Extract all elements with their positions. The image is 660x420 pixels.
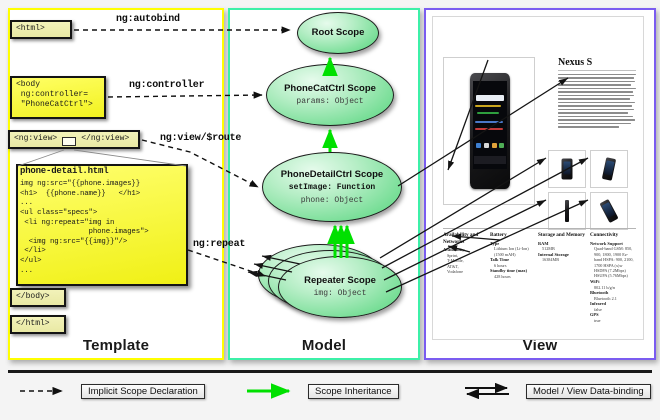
legend-label-databinding: Model / View Data-binding — [526, 384, 651, 399]
product-description-text — [558, 74, 636, 134]
description-line — [558, 98, 630, 99]
spec-row-value: true — [590, 318, 638, 323]
spec-column-heading: Connectivity — [590, 232, 638, 239]
phone-dock-bar — [474, 156, 506, 164]
spec-row-value: Vodafone — [443, 269, 487, 274]
scope-repeater: Repeater Scope img: Object — [278, 256, 402, 318]
spec-row-value: band HSPA: 900, 2100, — [590, 257, 638, 262]
file-name-label: phone-detail.html — [20, 166, 180, 176]
scope-root-title: Root Scope — [312, 27, 365, 38]
spec-row-value: 16384MB — [538, 257, 588, 262]
spec-column-heading: Battery — [490, 232, 534, 239]
description-line — [558, 123, 631, 124]
double-arrow-icon — [463, 383, 521, 399]
title-divider — [558, 70, 636, 71]
file-code-block: img ng:src="{{phone.images}} <h1> {{phon… — [20, 180, 186, 276]
ngview-placeholder-icon — [62, 137, 76, 146]
ngview-close-tag: </ng:view> — [81, 134, 129, 143]
thumbnail-3[interactable] — [548, 192, 586, 230]
legend-item-inheritance: Scope Inheritance — [245, 382, 399, 400]
label-ng-view-route: ng:view/$route — [160, 133, 241, 144]
spec-column-storage: Storage and MemoryRAM512MBInternal Stora… — [538, 232, 588, 263]
specs-divider — [443, 228, 636, 229]
scope-phonedetailctrl-title: PhoneDetailCtrl Scope — [281, 169, 383, 180]
description-line — [558, 74, 636, 75]
spec-column-battery: BatteryTypeLithium Ion (Li-Ion)(1500 mAH… — [490, 232, 534, 279]
panel-template-label: Template — [10, 337, 222, 354]
product-title: Nexus S — [558, 57, 592, 68]
legend-item-implicit: Implicit Scope Declaration — [18, 382, 205, 400]
phone-thumbnail-image — [599, 199, 618, 223]
phone-search-widget — [476, 95, 504, 101]
description-line — [558, 88, 636, 89]
legend-divider — [8, 370, 652, 373]
code-box-body-tag: <body ng:controller= "PhoneCatCtrl"> — [10, 76, 106, 119]
legend-label-implicit: Implicit Scope Declaration — [81, 384, 205, 399]
spec-row-value: Quad-band GSM: 850, — [590, 246, 638, 251]
description-line — [558, 77, 634, 78]
description-line — [558, 119, 635, 120]
scope-root: Root Scope — [297, 12, 379, 54]
green-arrow-icon — [245, 383, 303, 399]
spec-column-heading: Storage and Memory — [538, 232, 588, 239]
legend-item-databinding: Model / View Data-binding — [463, 382, 651, 400]
phone-thumbnail-screen — [602, 202, 615, 217]
spec-column-connectivity: ConnectivityNetwork SupportQuad-band GSM… — [590, 232, 638, 324]
spec-row-value: 428 hours — [490, 274, 534, 279]
legend-label-inheritance: Scope Inheritance — [308, 384, 399, 399]
thumbnail-2[interactable] — [590, 150, 628, 188]
code-box-html-tag: <html> — [10, 20, 72, 39]
thumbnail-1[interactable] — [548, 150, 586, 188]
phone-thumbnail-image — [565, 200, 569, 222]
scope-phonecatctrl-prop: params: Object — [296, 97, 363, 107]
description-line — [558, 116, 633, 117]
spec-column-heading: Availability and Networks — [443, 232, 487, 245]
description-line — [558, 95, 634, 96]
description-line — [558, 109, 634, 110]
description-line — [558, 112, 628, 113]
phone-thumbnail-screen — [604, 161, 614, 176]
scope-repeater-title: Repeater Scope — [304, 275, 376, 286]
thumbnail-4[interactable] — [590, 192, 628, 230]
diagram-canvas: Template <html> <body ng:controller= "Ph… — [0, 0, 660, 420]
description-line — [558, 91, 633, 92]
scope-repeater-prop: img: Object — [314, 289, 367, 299]
label-ng-autobind: ng:autobind — [116, 14, 180, 25]
description-line — [558, 102, 635, 103]
spec-row-value: Lithium Ion (Li-Ion) — [490, 246, 534, 251]
scope-phonecatctrl-title: PhoneCatCtrl Scope — [284, 83, 376, 94]
spec-column-availability: Availability and NetworksAvailabilitySpr… — [443, 232, 487, 275]
scope-phonedetailctrl-prop-phone: phone: Object — [301, 196, 363, 206]
phone-thumbnail-image — [562, 159, 573, 180]
scope-phonedetailctrl-prop-setimage: setImage: Function — [289, 183, 375, 193]
panel-model-label: Model — [230, 337, 418, 354]
phone-thumbnail-image — [602, 157, 616, 181]
description-line — [558, 126, 619, 127]
label-ng-controller: ng:controller — [129, 80, 204, 91]
description-line — [558, 105, 632, 106]
scope-phonedetailctrl: PhoneDetailCtrl Scope setImage: Function… — [262, 152, 402, 222]
description-line — [558, 81, 635, 82]
ngview-open-tag: <ng:view> — [14, 134, 57, 143]
dashed-arrow-icon — [18, 383, 76, 399]
label-ng-repeat: ng:repeat — [193, 239, 245, 250]
scope-phonecatctrl: PhoneCatCtrl Scope params: Object — [266, 64, 394, 126]
code-box-end-html: </html> — [10, 315, 66, 334]
description-line — [558, 84, 631, 85]
phone-thumbnail-screen — [563, 161, 571, 174]
code-box-end-body: </body> — [10, 288, 66, 307]
